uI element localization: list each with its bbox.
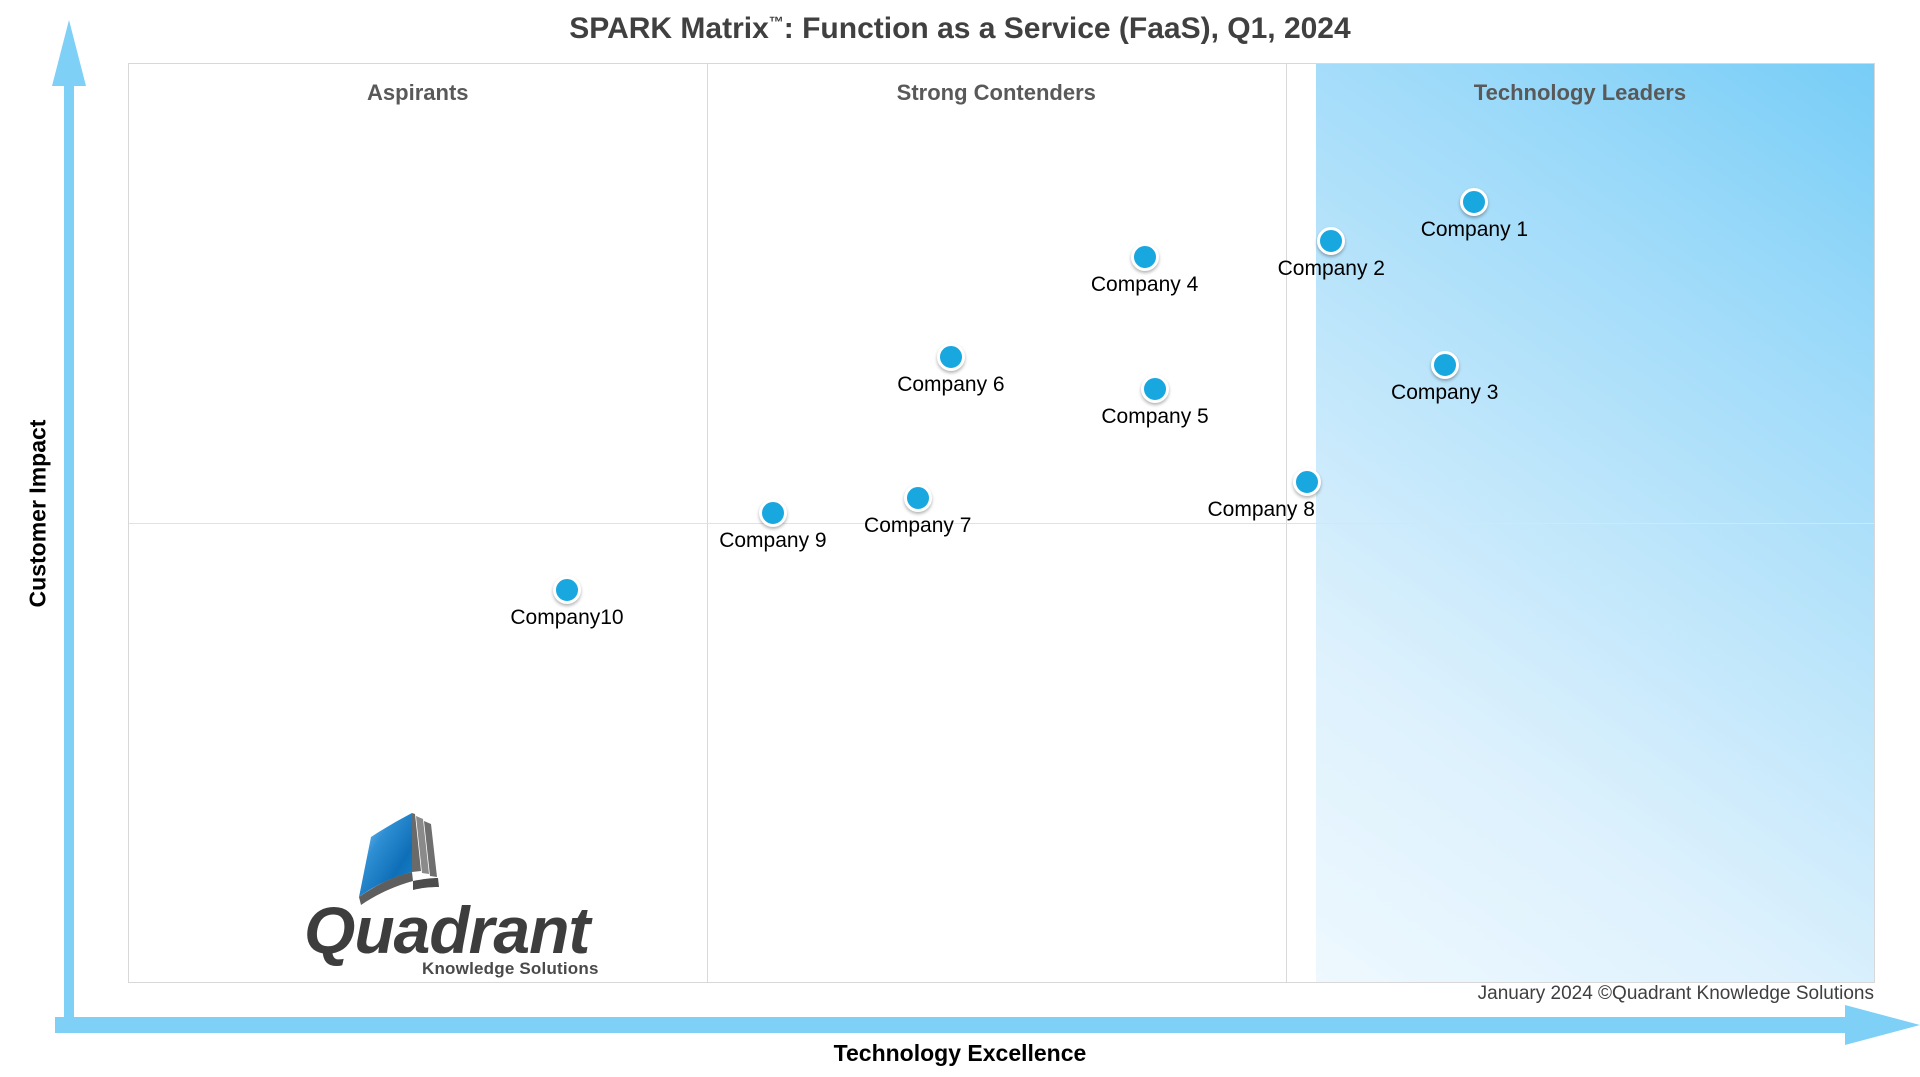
bubble-marker-icon [1131, 243, 1159, 271]
data-point-label: Company 7 [864, 514, 971, 538]
x-axis-arrow-icon [55, 1005, 1920, 1045]
bubble-marker-icon [904, 484, 932, 512]
data-point-label: Company10 [510, 606, 623, 630]
data-point-label: Company 5 [1101, 405, 1208, 429]
bubble-marker-icon [1293, 468, 1321, 496]
trademark-icon: ™ [769, 14, 784, 31]
data-point-label: Company 3 [1391, 381, 1498, 405]
x-axis-label: Technology Excellence [0, 1040, 1920, 1067]
bubble-marker-icon [553, 576, 581, 604]
data-point-label: Company 8 [1207, 498, 1314, 522]
logo-wordmark: Quadrant [304, 897, 634, 963]
title-main: SPARK Matrix [569, 12, 768, 45]
quadrant-label-technology-leaders: Technology Leaders [1286, 80, 1874, 106]
bubble-marker-icon [759, 499, 787, 527]
data-point-label: Company 4 [1091, 273, 1198, 297]
copyright-note: January 2024 ©Quadrant Knowledge Solutio… [1478, 983, 1874, 1005]
quadrant-divider-horizontal [129, 523, 1874, 524]
bubble-marker-icon [1431, 351, 1459, 379]
bubble-marker-icon [1460, 188, 1488, 216]
spark-matrix-plot: Aspirants Strong Contenders Technology L… [128, 63, 1875, 983]
quadrant-knowledge-solutions-logo: Quadrant Knowledge Solutions [304, 819, 634, 979]
y-axis-label: Customer Impact [25, 384, 52, 644]
data-point-label: Company 9 [719, 529, 826, 553]
bubble-marker-icon [937, 343, 965, 371]
quadrant-label-aspirants: Aspirants [129, 80, 707, 106]
data-point-label: Company 2 [1278, 257, 1385, 281]
bubble-marker-icon [1141, 375, 1169, 403]
page-title: SPARK Matrix™: Function as a Service (Fa… [0, 12, 1920, 46]
title-rest: : Function as a Service (FaaS), Q1, 2024 [784, 12, 1351, 45]
data-point-label: Company 6 [897, 373, 1004, 397]
data-point-label: Company 1 [1421, 218, 1528, 242]
bubble-marker-icon [1317, 227, 1345, 255]
quadrant-label-strong-contenders: Strong Contenders [707, 80, 1286, 106]
y-axis-arrow-icon [52, 14, 86, 1024]
logo-tagline: Knowledge Solutions [422, 959, 642, 979]
